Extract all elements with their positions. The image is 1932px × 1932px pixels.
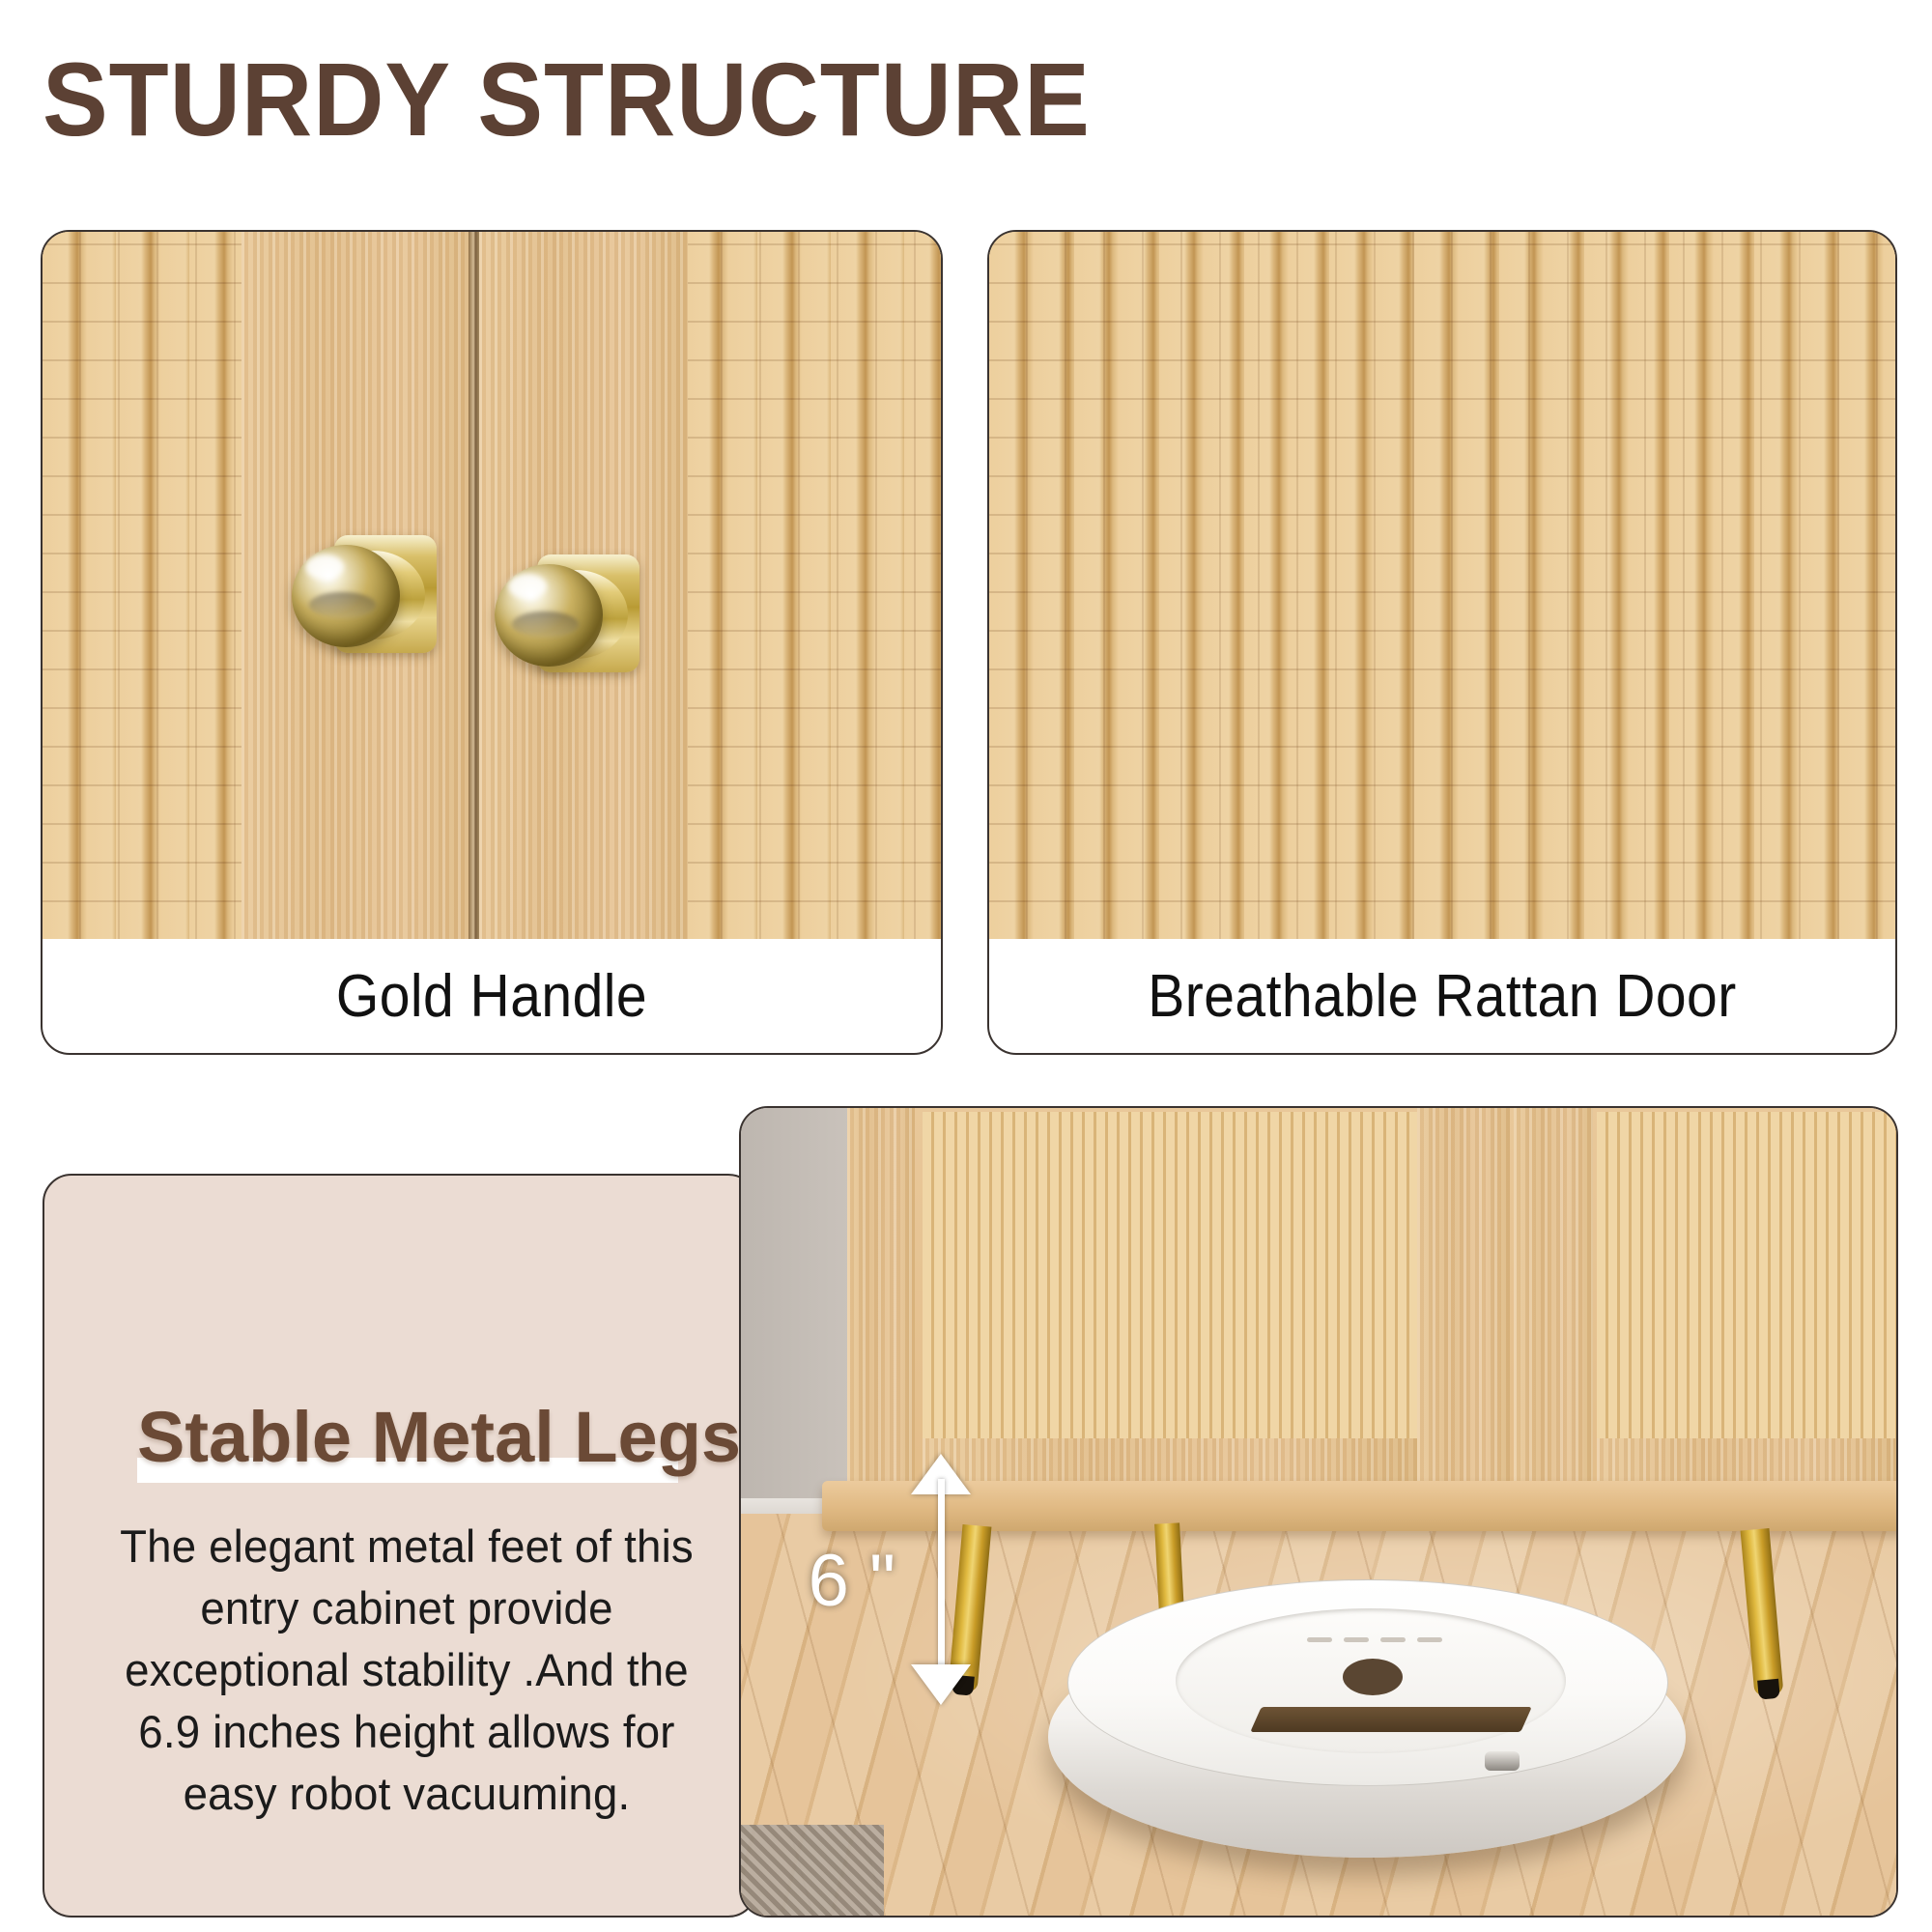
- gold-knob-left-icon: [292, 522, 437, 667]
- dimension-label: 6 ": [780, 1543, 895, 1620]
- photo-rattan-weave: [989, 232, 1895, 939]
- dimension-line: [938, 1479, 945, 1680]
- page-title: STURDY STRUCTURE: [43, 43, 1495, 158]
- photo-cabinet-legs-scene: 6 ": [739, 1106, 1898, 1918]
- rattan-weave-left: [43, 232, 247, 939]
- photo-gold-handle: [43, 232, 941, 939]
- caption-gold-handle: Gold Handle: [78, 939, 905, 1053]
- caption-rattan-door: Breathable Rattan Door: [1026, 939, 1860, 1053]
- info-panel-body: The elegant metal feet of this entry cab…: [104, 1516, 710, 1825]
- heading-wrap: Stable Metal Legs: [137, 1396, 678, 1489]
- rattan-mesh-door-2: [1597, 1112, 1898, 1438]
- cabinet-stile-2: [1417, 1106, 1510, 1487]
- cabinet-stile-1: [847, 1106, 915, 1487]
- arrow-down-icon: [911, 1664, 971, 1705]
- floor-rug-corner: [739, 1825, 884, 1918]
- robot-vacuum: [1048, 1562, 1686, 1881]
- cabinet-stile-3: [1514, 1106, 1593, 1487]
- feature-card-gold-handle: Gold Handle: [41, 230, 943, 1055]
- info-panel-heading: Stable Metal Legs: [137, 1396, 741, 1479]
- dimension-annotation: 6 ": [884, 1454, 1000, 1705]
- rattan-weave-right: [684, 232, 941, 939]
- rattan-mesh-door-1: [923, 1112, 1417, 1438]
- info-panel-stable-metal-legs: Stable Metal Legs The elegant metal feet…: [43, 1174, 757, 1918]
- gold-knob-right-icon: [495, 541, 639, 686]
- feature-card-rattan-door: Breathable Rattan Door: [987, 230, 1897, 1055]
- rattan-weave-macro: [989, 232, 1895, 939]
- cabinet: [847, 1106, 1898, 1527]
